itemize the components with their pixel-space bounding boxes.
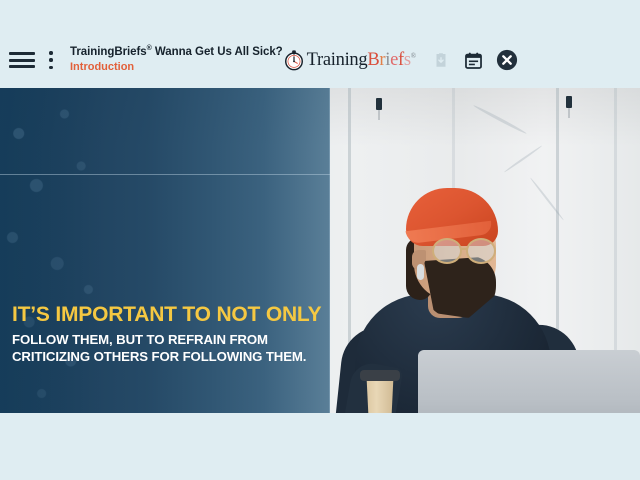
wall-clip [566,96,572,108]
hamburger-menu-icon[interactable] [9,51,35,69]
coffee-cup-lid [360,370,400,381]
close-button[interactable] [495,48,519,72]
header-titles: TrainingBriefs® Wanna Get Us All Sick? I… [70,46,283,73]
overlay-divider-line [0,174,330,175]
wall-clip [376,98,382,110]
glasses-lens-left [432,238,462,264]
notes-button[interactable] [462,48,486,72]
wall-vein [530,177,565,221]
section-label: Introduction [70,61,283,73]
course-title-brand: TrainingBriefs [70,46,147,58]
glasses-lens-right [466,238,496,264]
download-resources-button [429,48,453,72]
more-options-icon[interactable] [43,50,59,70]
header-right-group: TrainingBriefs® [283,48,519,72]
slide-stage: IT’S IMPORTANT TO NOT ONLY FOLLOW THEM, … [0,88,640,413]
player-header: TrainingBriefs® Wanna Get Us All Sick? I… [0,32,640,88]
trainingbriefs-logo: TrainingBriefs® [283,49,416,71]
course-title-rest: Wanna Get Us All Sick? [152,46,283,58]
kebab-dot [49,51,53,55]
hamburger-line [9,52,35,55]
slide-subheadline: FOLLOW THEM, BUT TO REFRAIN FROM CRITICI… [12,332,318,366]
brand-registered-mark: ® [411,51,416,59]
close-circle-icon [496,49,518,71]
laptop [418,350,640,413]
slide-headline: IT’S IMPORTANT TO NOT ONLY [12,304,322,326]
slide-copy: IT’S IMPORTANT TO NOT ONLY FOLLOW THEM, … [12,304,322,366]
stopwatch-icon [283,49,305,71]
download-icon [432,51,450,69]
brand-word-training: Training [307,50,368,70]
calendar-notes-icon [464,51,483,70]
wall-vein [504,145,543,173]
hamburger-line [9,59,35,62]
glasses-bridge [461,248,468,250]
hamburger-line [9,65,35,68]
earbud [417,264,424,280]
kebab-dot [49,58,53,62]
overlay-right-edge [329,88,330,413]
wall-vein [473,104,527,135]
header-left-group: TrainingBriefs® Wanna Get Us All Sick? I… [9,46,283,73]
page-title: TrainingBriefs® Wanna Get Us All Sick? [70,46,283,59]
kebab-dot [49,66,53,70]
course-player-window: TrainingBriefs® Wanna Get Us All Sick? I… [0,0,640,480]
brand-wordmark: TrainingBriefs® [307,50,416,71]
